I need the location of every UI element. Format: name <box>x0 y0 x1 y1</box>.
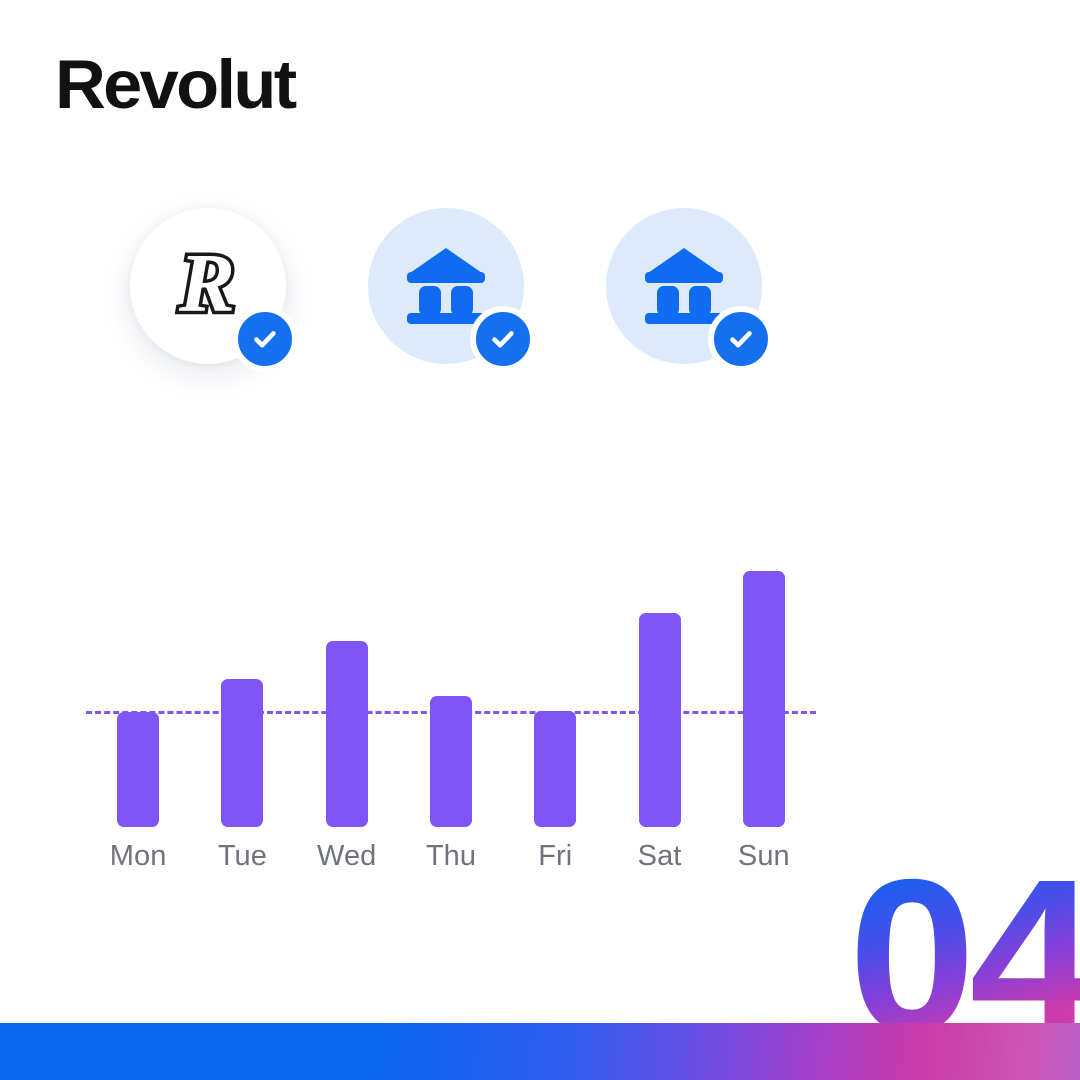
bank-icon <box>641 245 727 327</box>
chart-x-axis-labels: MonTueWedThuFriSatSun <box>86 840 816 880</box>
chart-bar <box>639 613 681 827</box>
chart-x-label-wed: Wed <box>292 840 402 873</box>
chart-bar <box>117 712 159 827</box>
account-chip-bank-1[interactable] <box>368 208 524 364</box>
linked-accounts-row: R <box>130 208 762 364</box>
chart-x-label-mon: Mon <box>83 840 193 873</box>
chart-bar <box>326 641 368 827</box>
check-circle-icon <box>232 306 298 372</box>
slide-canvas: Revolut R <box>0 0 1080 1080</box>
chart-x-label-sun: Sun <box>709 840 819 873</box>
chart-x-label-sat: Sat <box>605 840 715 873</box>
account-chip-revolut[interactable]: R <box>130 208 286 364</box>
chart-bar <box>221 679 263 827</box>
chart-plot-area <box>86 545 816 827</box>
check-circle-icon <box>708 306 774 372</box>
revolut-wordmark-logo: Revolut <box>55 50 295 119</box>
bottom-gradient-bar <box>0 1023 1080 1080</box>
chart-x-label-tue: Tue <box>187 840 297 873</box>
chart-x-label-fri: Fri <box>500 840 610 873</box>
bank-icon <box>403 245 489 327</box>
chart-bar <box>534 711 576 827</box>
revolut-r-logo-icon: R <box>179 242 235 326</box>
average-baseline-line <box>86 711 816 714</box>
check-circle-icon <box>470 306 536 372</box>
account-chip-bank-2[interactable] <box>606 208 762 364</box>
chart-bar <box>430 696 472 827</box>
chart-x-label-thu: Thu <box>396 840 506 873</box>
chart-bar <box>743 571 785 827</box>
